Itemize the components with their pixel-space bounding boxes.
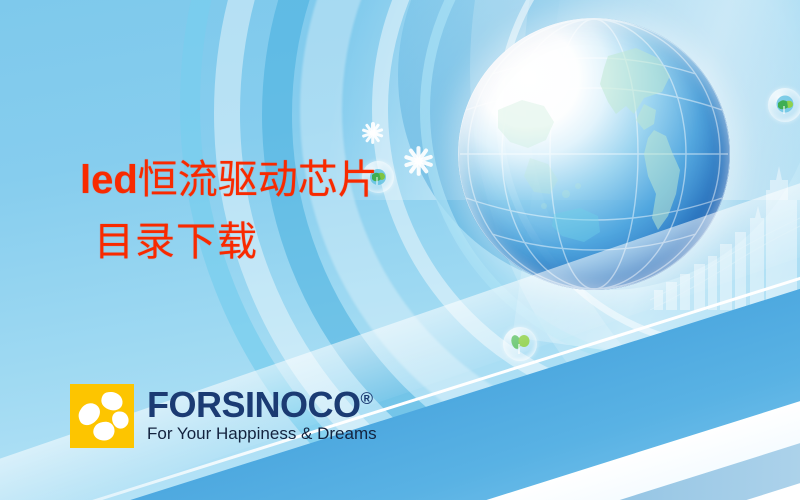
- company-logo[interactable]: FORSINOCO® For Your Happiness & Dreams: [70, 384, 377, 448]
- headline-line-2: 目录下载: [80, 222, 440, 262]
- promo-banner: led恒流驱动芯片 目录下载 FORSINOCO® For Your Happi…: [0, 0, 800, 500]
- pinwheel-petals-icon: [70, 384, 134, 448]
- daisy-flower-small: [362, 122, 384, 144]
- bubble-corner: [768, 88, 800, 122]
- headline-block: led恒流驱动芯片 目录下载: [80, 160, 440, 262]
- brand-name: FORSINOCO®: [147, 388, 377, 422]
- logo-text-block: FORSINOCO® For Your Happiness & Dreams: [147, 388, 377, 444]
- headline-cjk-text: 恒流驱动芯片: [138, 157, 378, 202]
- pinwheel-clover-mark: [70, 384, 134, 448]
- brand-word: FORSINOCO: [147, 384, 361, 425]
- brand-tagline: For Your Happiness & Dreams: [147, 425, 377, 444]
- mini-globe-corner-icon: [768, 88, 800, 122]
- registered-trademark-icon: ®: [361, 389, 374, 408]
- headline-latin-text: led: [80, 158, 138, 202]
- headline-line-1: led恒流驱动芯片: [80, 160, 440, 200]
